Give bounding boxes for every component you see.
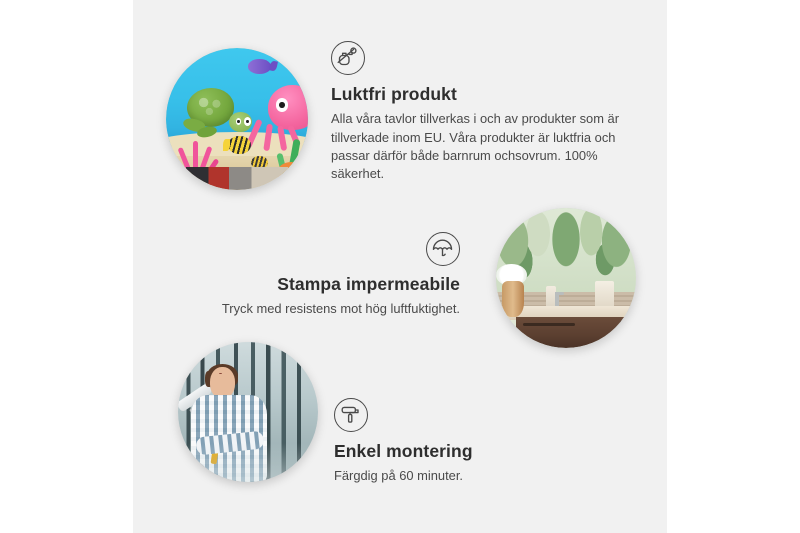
feature-body: Färgdig på 60 minuter. [334, 467, 614, 485]
photo-underwater-scene [166, 48, 308, 190]
poster-canvas: Luktfri produkt Alla våra tavlor tillver… [0, 0, 800, 533]
vase [502, 281, 524, 317]
feature-title: Enkel montering [334, 441, 614, 461]
no-perfume-icon [331, 41, 365, 75]
room-strip [186, 167, 288, 190]
paint-roller-icon [334, 398, 368, 432]
feature-title: Luktfri produkt [331, 84, 631, 104]
person-figure [189, 367, 270, 482]
forest-wallpaper-background [178, 342, 318, 482]
feature-odourless: Luktfri produkt Alla våra tavlor tillver… [331, 41, 631, 184]
bathroom-background [496, 208, 636, 348]
purple-fish [248, 59, 271, 73]
feature-waterproof: Stampa impermeabile Tryck med resistens … [198, 232, 460, 319]
umbrella-icon [426, 232, 460, 266]
feature-easy-mounting: Enkel montering Färgdig på 60 minuter. [334, 398, 614, 486]
hand-tool [210, 443, 218, 464]
sea-turtle-icon [183, 86, 248, 133]
photo-woman-with-paint-roller-forest [178, 342, 318, 482]
feature-body: Tryck med resistens mot hög luftfuktighe… [198, 300, 460, 318]
photo-bathroom-tropical-wallpaper [496, 208, 636, 348]
underwater-background [166, 48, 308, 190]
feature-title: Stampa impermeabile [198, 274, 460, 294]
feature-body: Alla våra tavlor tillverkas i och av pro… [331, 110, 623, 184]
vanity-cabinet [516, 317, 636, 348]
